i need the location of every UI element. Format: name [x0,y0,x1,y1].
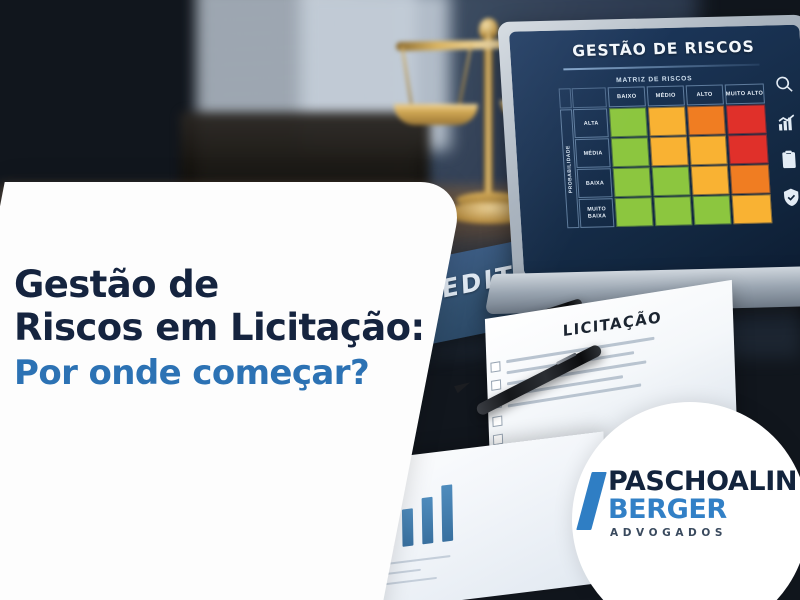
checkbox [490,361,500,373]
matrix-cell-alta-muito-alto[interactable] [726,105,767,135]
matrix-cell-baixa-alto[interactable] [690,166,729,195]
licitacao-label: LICITAÇÃO [563,308,663,340]
headline-block: Gestão de Riscos em Licitação: Por onde … [14,264,474,393]
matrix-cell-muito-baixa-alto[interactable] [692,196,731,225]
matrix-cell-muito-baixa-médio[interactable] [653,197,692,226]
logo-line-paschoalin: PASCHOALIN [608,468,797,495]
scales-chain [401,46,413,108]
laptop: GESTÃO DE RISCOS MATRIZ DE RISCOS BAIXOM… [497,14,800,296]
risk-dashboard: GESTÃO DE RISCOS MATRIZ DE RISCOS BAIXOM… [509,25,800,277]
dashboard-sidebar-item[interactable]: ANAL [777,111,800,132]
matrix-row-header: BAIXA [577,169,613,198]
dashboard-sidebar-item[interactable]: AVALIAR [779,148,800,169]
risk-matrix: BAIXOMÉDIOALTOMUITO ALTOPROBABILIDADEALT… [559,84,773,229]
matrix-cell-média-alto[interactable] [688,136,727,165]
scales-chain [458,44,472,107]
sheet-text-lines [506,337,656,416]
matrix-subtitle: MATRIZ DE RISCOS [616,75,693,84]
matrix-cell-média-baixo[interactable] [611,138,650,167]
matrix-row-header: MUITOBAIXA [579,199,615,228]
matrix-cell-baixa-baixo[interactable] [613,168,652,197]
report-bar [441,484,453,542]
dashboard-title: GESTÃO DE RISCOS [572,38,755,60]
risk-matrix-grid: BAIXOMÉDIOALTOMUITO ALTOPROBABILIDADEALT… [559,84,773,229]
matrix-cell-alta-alto[interactable] [687,106,726,135]
matrix-row-header: MÉDIA [575,139,611,168]
checkbox [492,416,502,428]
matrix-column-header: MÉDIO [646,85,685,106]
matrix-row-header: ALTA [573,109,609,138]
matrix-cell-baixa-muito-alto[interactable] [729,165,770,195]
search-icon [774,75,794,94]
matrix-cell-média-médio[interactable] [650,137,689,166]
checkbox [491,379,501,391]
headline-line-1: Gestão de [14,264,474,307]
poster-canvas: EDITAL GESTÃO DE RISCOS MATRIZ DE RISCOS… [0,0,800,600]
shield-check-icon [781,187,800,206]
matrix-cell-muito-baixa-baixo[interactable] [614,198,653,227]
matrix-cell-média-muito-alto[interactable] [727,135,768,165]
matrix-corner-cell [559,88,572,108]
laptop-screen: GESTÃO DE RISCOS MATRIZ DE RISCOS BAIXOM… [509,25,800,277]
headline-line-3: Por onde começar? [14,354,474,393]
title-divider [563,64,759,71]
matrix-corner-cell [572,87,607,108]
matrix-cell-alta-médio[interactable] [648,107,687,136]
dashboard-sidebar: IDENANALAVALIARMONITOR [774,74,800,225]
report-bar [402,508,414,546]
report-bar [422,497,434,544]
dashboard-sidebar-item[interactable]: IDEN [774,74,800,95]
headline-line-2: Riscos em Licitação: [14,307,474,350]
matrix-cell-muito-baixa-muito-alto[interactable] [731,195,772,225]
logo-line-berger: BERGER [608,496,797,523]
scales-post [484,32,493,208]
logo-line-advogados: ADVOGADOS [610,528,797,539]
bar-chart-icon [777,112,797,131]
dashboard-sidebar-item[interactable]: MONITOR [781,186,800,207]
matrix-cell-alta-baixo[interactable] [609,108,648,137]
matrix-cell-baixa-médio[interactable] [651,167,690,196]
logo-wordmark: PASCHOALIN BERGER ADVOGADOS [608,468,797,539]
brand-logo: PASCHOALIN BERGER ADVOGADOS [584,468,800,560]
matrix-column-header: BAIXO [607,86,646,107]
matrix-column-header: ALTO [685,85,724,106]
matrix-column-header: MUITO ALTO [724,84,765,105]
clipboard-icon [779,150,799,169]
scales-pan-left [394,104,478,125]
